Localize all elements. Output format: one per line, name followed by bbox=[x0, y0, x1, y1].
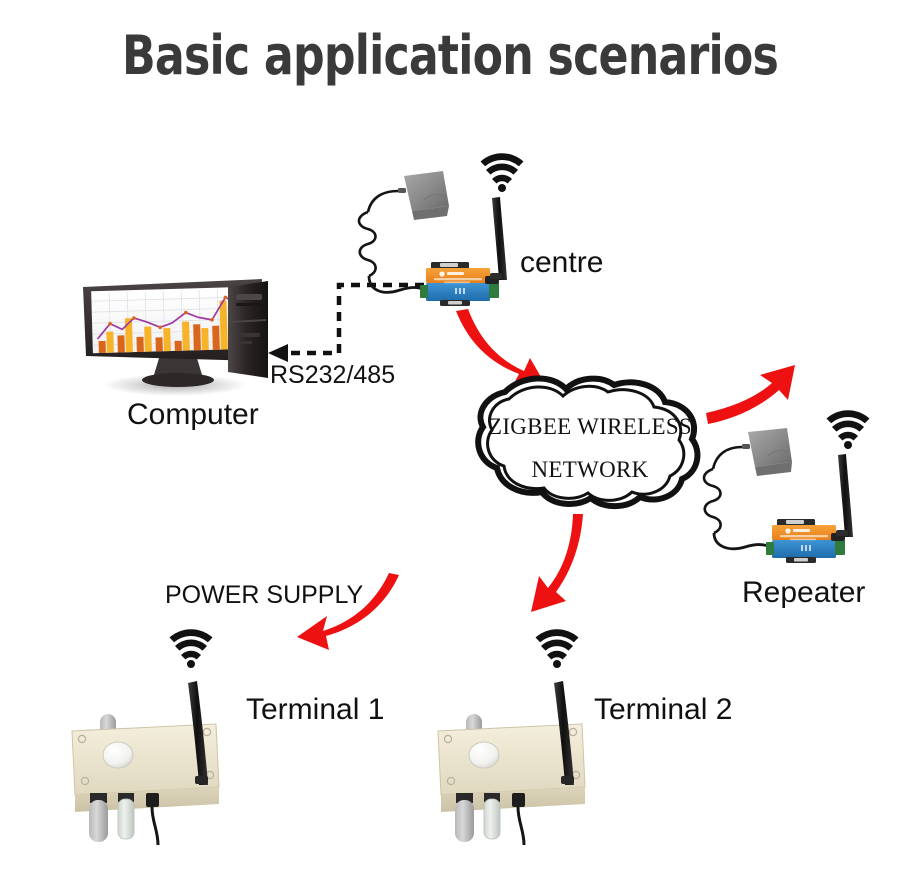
label-power-supply: POWER SUPPLY bbox=[165, 583, 363, 608]
label-repeater: Repeater bbox=[742, 578, 865, 608]
repeater-wifi-icon bbox=[827, 410, 870, 449]
label-computer: Computer bbox=[127, 400, 259, 430]
cloud-label-line2: NETWORK bbox=[485, 458, 695, 481]
label-centre: centre bbox=[520, 248, 603, 278]
cloud-label-line1: ZIGBEE WIRELESS bbox=[488, 414, 692, 439]
arrow-cloud-to-terminal2 bbox=[531, 514, 583, 612]
label-terminal-1: Terminal 1 bbox=[246, 695, 384, 725]
label-rs232-485: RS232/485 bbox=[270, 363, 395, 388]
terminal1-wifi-icon bbox=[170, 629, 213, 668]
centre-antenna bbox=[490, 197, 507, 280]
centre-wifi-icon bbox=[481, 153, 524, 192]
centre-converter-module bbox=[420, 262, 499, 306]
cloud-label: ZIGBEE WIRELESS NETWORK bbox=[485, 415, 695, 481]
repeater-converter-module bbox=[766, 519, 845, 563]
terminal2-wifi-icon bbox=[536, 629, 579, 668]
repeater-antenna bbox=[836, 454, 853, 537]
terminal1-sensor-node bbox=[72, 681, 219, 845]
diagram-graphics bbox=[0, 0, 900, 876]
rs232-dashed-link bbox=[268, 285, 424, 362]
arrow-cloud-to-repeater bbox=[706, 365, 795, 424]
computer-illustration bbox=[83, 279, 268, 396]
label-terminal-2: Terminal 2 bbox=[594, 695, 732, 725]
terminal2-sensor-node bbox=[438, 681, 585, 845]
diagram-canvas: Basic application scenarios bbox=[0, 0, 900, 876]
